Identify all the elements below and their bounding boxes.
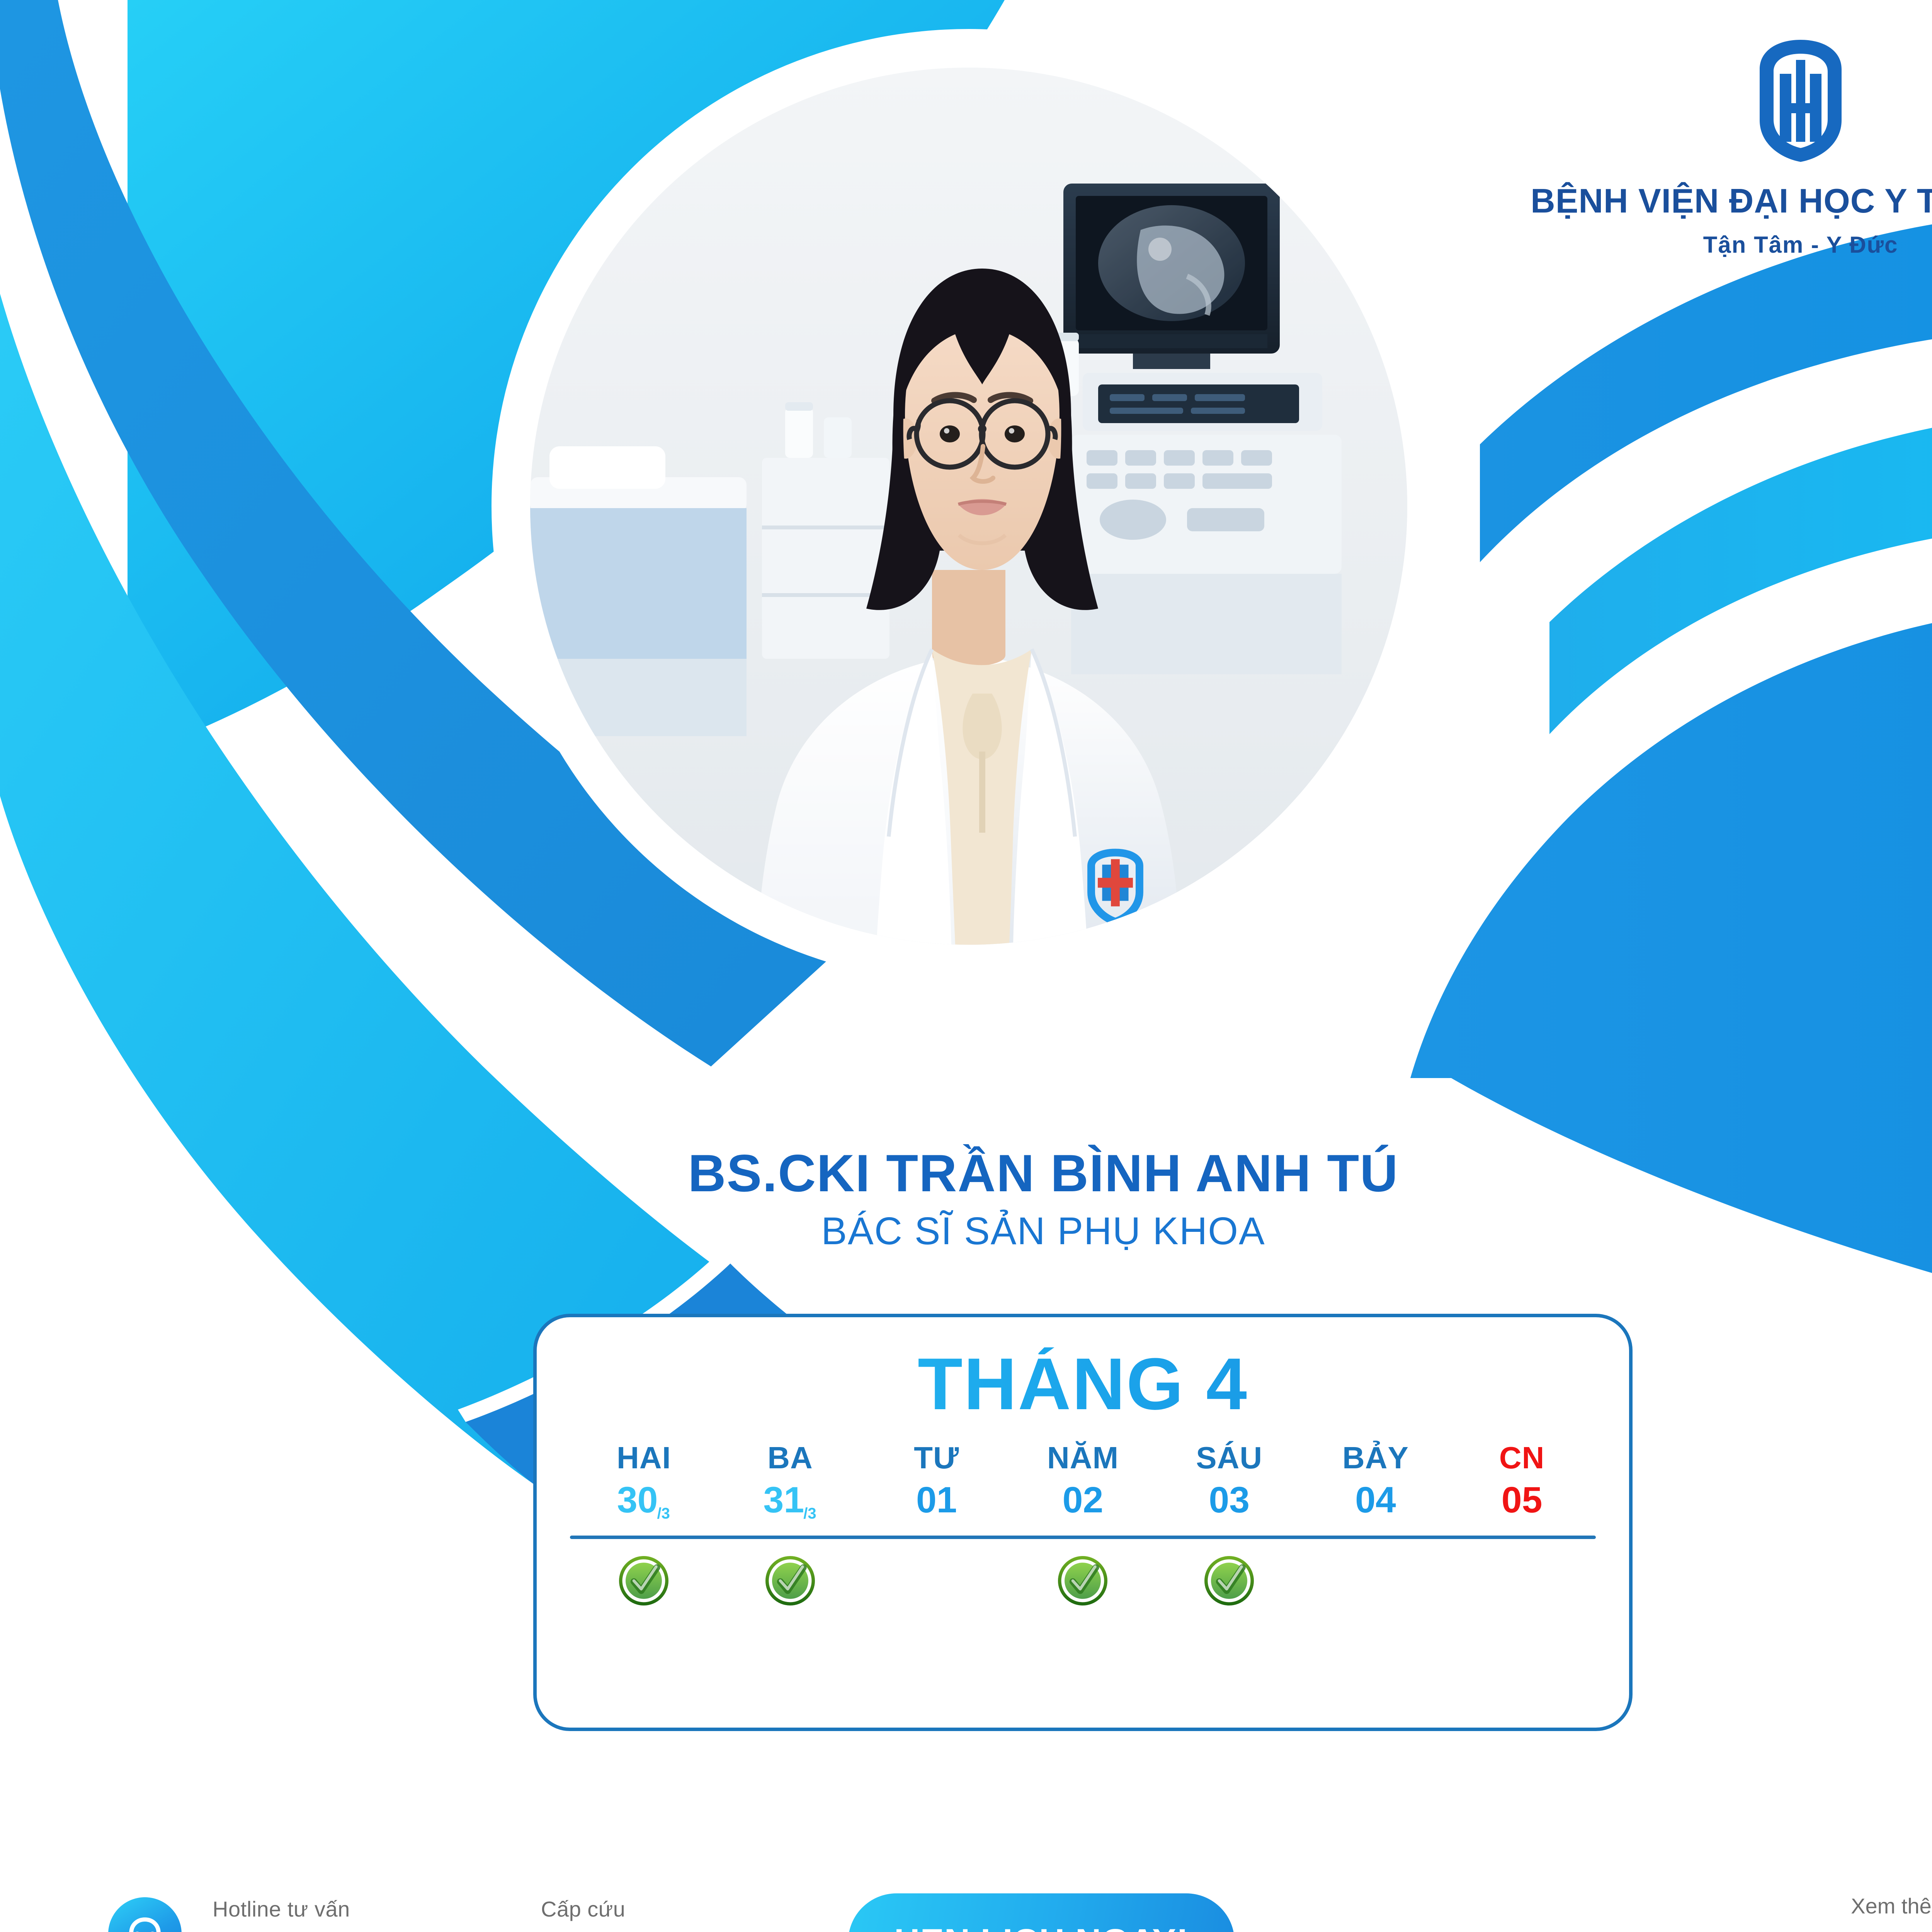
- website-url[interactable]: www.benhvientantao.com: [1560, 1929, 1932, 1932]
- day-number: 31/3: [717, 1482, 864, 1519]
- website-block: Xem thêm tại www.benhvientantao.com: [1560, 1895, 1932, 1932]
- day-of-week-label: TƯ: [863, 1442, 1010, 1473]
- calendar-divider: [570, 1536, 1596, 1539]
- day-number: 30/3: [571, 1482, 717, 1519]
- doctor-name-block: BS.CKI TRẦN BÌNH ANH TÚ BÁC SĨ SẢN PHỤ K…: [0, 1146, 1932, 1252]
- hospital-name: BỆNH VIỆN ĐẠI HỌC Y TÂN TẠO: [1531, 181, 1932, 221]
- emergency-label: Cấp cứu: [541, 1898, 764, 1920]
- day-number: 04: [1303, 1482, 1449, 1519]
- availability-check-icon: [1156, 1556, 1303, 1605]
- day-of-week-label: BA: [717, 1442, 864, 1473]
- calendar-column-sáu[interactable]: SÁU03: [1156, 1442, 1303, 1519]
- availability-check-icon: [717, 1556, 864, 1605]
- footer-bar: Hotline tư vấn 0272 3769 727 Cấp cứu 070…: [0, 1884, 1932, 1932]
- book-appointment-label: HẸN LỊCH NGAY!: [894, 1922, 1189, 1932]
- headset-icon: [108, 1897, 182, 1932]
- schedule-card: THÁNG 4 HAI30/3BA31/3TƯ01NĂM02SÁU03BẢY04…: [533, 1314, 1633, 1731]
- doctor-photo: [530, 68, 1407, 945]
- availability-check-icon: [571, 1556, 717, 1605]
- hospital-logo-block: BỆNH VIỆN ĐẠI HỌC Y TÂN TẠO Tận Tâm - Y …: [1573, 37, 1932, 258]
- day-of-week-label: CN: [1449, 1442, 1595, 1473]
- appointment-schedule-poster: BỆNH VIỆN ĐẠI HỌC Y TÂN TẠO Tận Tâm - Y …: [0, 0, 1932, 1932]
- calendar-column-ba[interactable]: BA31/3: [717, 1442, 864, 1519]
- website-label: Xem thêm tại: [1560, 1895, 1932, 1917]
- emergency-block: Cấp cứu 0704 911 115: [541, 1898, 764, 1932]
- calendar-column-cn[interactable]: CN05: [1449, 1442, 1595, 1519]
- day-month-suffix: /3: [803, 1505, 816, 1522]
- hospital-slogan: Tận Tâm - Y Đức: [1703, 231, 1898, 258]
- calendar-column-tư[interactable]: TƯ01: [863, 1442, 1010, 1519]
- day-number: 01: [863, 1482, 1010, 1519]
- day-of-week-label: HAI: [571, 1442, 717, 1473]
- day-of-week-label: NĂM: [1010, 1442, 1156, 1473]
- calendar-column-bảy[interactable]: BẢY04: [1303, 1442, 1449, 1519]
- hotline-block: Hotline tư vấn 0272 3769 727: [213, 1898, 460, 1932]
- month-title: THÁNG 4: [537, 1347, 1629, 1421]
- day-of-week-label: BẢY: [1303, 1442, 1449, 1473]
- availability-check-icon: [1010, 1556, 1156, 1605]
- calendar-column-năm[interactable]: NĂM02: [1010, 1442, 1156, 1519]
- page-title: BS.CKI TRẦN BÌNH ANH TÚ: [0, 1146, 1932, 1201]
- day-number: 03: [1156, 1482, 1303, 1519]
- calendar-availability-row: [537, 1556, 1629, 1605]
- doctor-portrait-illustration: [530, 68, 1407, 945]
- day-number: 02: [1010, 1482, 1156, 1519]
- calendar-column-hai[interactable]: HAI30/3: [571, 1442, 717, 1519]
- book-appointment-button[interactable]: HẸN LỊCH NGAY!: [848, 1893, 1235, 1932]
- day-month-suffix: /3: [657, 1505, 670, 1522]
- day-number: 05: [1449, 1482, 1595, 1519]
- calendar-header-row: HAI30/3BA31/3TƯ01NĂM02SÁU03BẢY04CN05: [537, 1442, 1629, 1519]
- hospital-shield-logo-icon: [1743, 37, 1859, 164]
- doctor-specialty: BÁC SĨ SẢN PHỤ KHOA: [0, 1211, 1932, 1252]
- day-of-week-label: SÁU: [1156, 1442, 1303, 1473]
- hotline-label: Hotline tư vấn: [213, 1898, 460, 1920]
